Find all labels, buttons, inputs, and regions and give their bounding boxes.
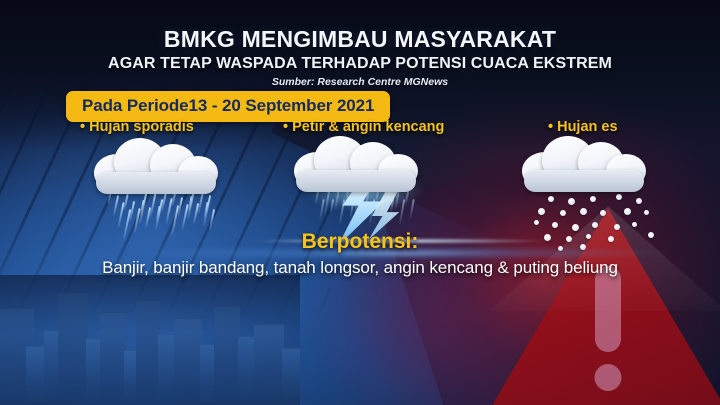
hail-stone: [600, 210, 606, 216]
rain-streak: [405, 190, 409, 204]
page-subtitle: AGAR TETAP WASPADA TERHADAP POTENSI CUAC…: [0, 55, 720, 73]
potential-heading: Berpotensi:: [0, 230, 720, 254]
rain-streak: [123, 194, 128, 210]
cloud-shape: [292, 134, 422, 190]
weather-warning-infographic: BMKG MENGIMBAU MASYARAKAT AGAR TETAP WAS…: [0, 0, 720, 405]
rain-streak: [334, 190, 339, 210]
hail-stone: [590, 196, 596, 202]
date-period-banner: Pada Periode13 - 20 September 2021: [66, 91, 390, 122]
cloud-base: [296, 170, 416, 192]
rain-streak: [319, 199, 324, 219]
rain-streak: [208, 209, 214, 230]
rain-streak: [112, 195, 118, 216]
condition-label-hujan-sporadis: • Hujan sporadis: [80, 119, 194, 135]
date-period-label: Pada Periode13 - 20 September 2021: [82, 96, 374, 115]
hail-stone: [592, 222, 598, 228]
cloud-shape: [520, 134, 650, 190]
cloud-base: [96, 172, 216, 194]
city-skyline-haze: [0, 275, 300, 405]
exclamation-bar: [595, 266, 621, 352]
page-title: BMKG MENGIMBAU MASYARAKAT: [0, 26, 720, 53]
exclamation-dot: [595, 364, 622, 391]
hail-stone: [616, 194, 622, 200]
rain-streak: [315, 190, 319, 204]
hail-stone: [568, 198, 575, 205]
hail-stone: [548, 196, 554, 202]
hail-stone: [560, 210, 566, 216]
hail-stone: [636, 198, 642, 204]
hail-stone: [580, 208, 587, 215]
condition-label-petir-angin-kencang: • Petir & angin kencang: [283, 119, 444, 135]
rain-streak: [409, 199, 414, 219]
hail-stone: [552, 222, 558, 228]
hail-stone: [534, 220, 539, 225]
cloud-shape: [92, 136, 222, 192]
hail-stone: [644, 210, 649, 215]
cloud-base: [524, 170, 644, 192]
header: BMKG MENGIMBAU MASYARAKAT AGAR TETAP WAS…: [0, 26, 720, 88]
hail-stone: [538, 208, 545, 215]
hail-stone: [632, 222, 637, 227]
potential-detail: Banjir, banjir bandang, tanah longsor, a…: [0, 258, 720, 278]
condition-label-hujan-es: • Hujan es: [548, 119, 618, 135]
rain-streak: [330, 199, 334, 213]
rain-streak: [149, 192, 156, 218]
hail-stone: [624, 208, 631, 215]
source-credit: Sumber: Research Centre MGNews: [0, 76, 720, 88]
